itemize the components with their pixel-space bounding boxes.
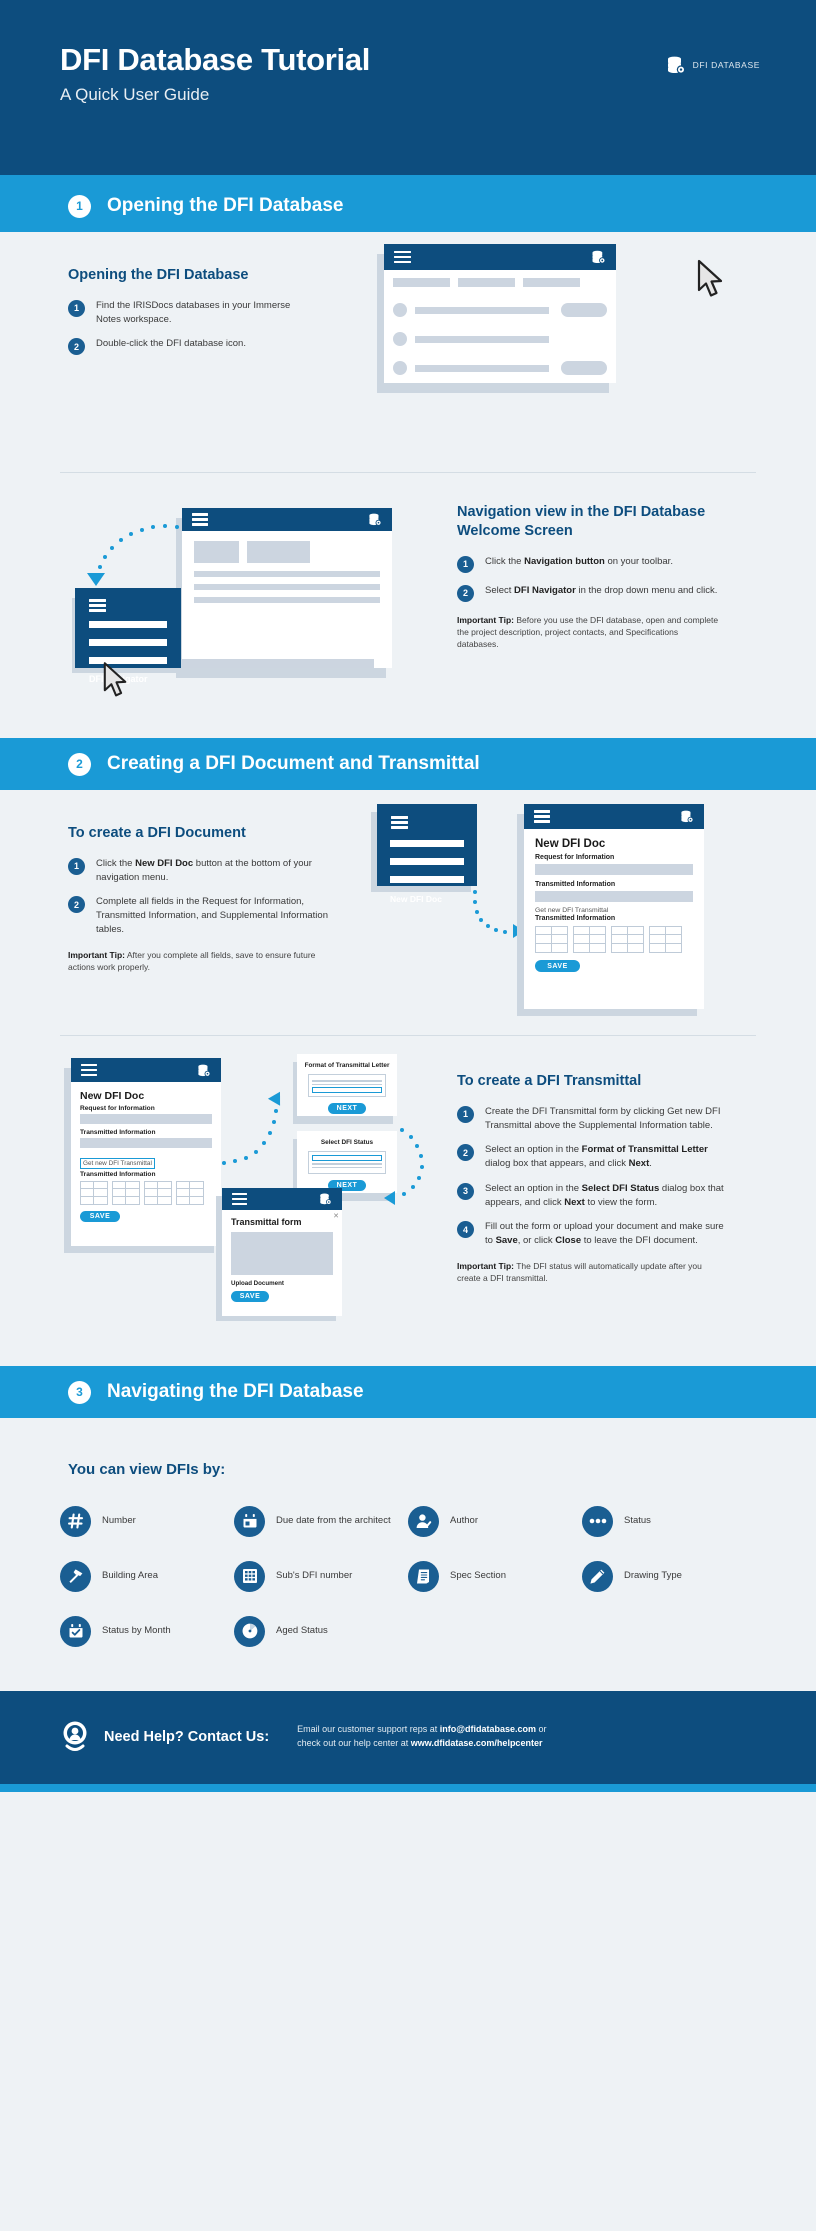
row-avatar: [393, 332, 407, 346]
view-option-drawing-type[interactable]: Drawing Type: [582, 1561, 756, 1592]
view-option-subs-dfi-number[interactable]: Sub's DFI number: [234, 1561, 408, 1592]
view-option-building-area[interactable]: Building Area: [60, 1561, 234, 1592]
footer-accent-rule: [0, 1784, 816, 1792]
list-item: 2 Select DFI Navigator in the drop down …: [457, 584, 722, 602]
view-option-label: Aged Status: [276, 1625, 328, 1637]
field-input[interactable]: [535, 891, 693, 902]
document-preview-area[interactable]: [231, 1232, 333, 1275]
step-text: Double-click the DFI database icon.: [96, 337, 246, 355]
table-grid[interactable]: [112, 1181, 140, 1205]
row-avatar: [393, 303, 407, 317]
select-dfi-status-dialog: Select DFI Status NEXT: [297, 1131, 397, 1193]
field-label: Transmitted Information: [535, 881, 693, 888]
mockup-toolbar[interactable]: [222, 1188, 342, 1210]
footer-contact-text: Email our customer support reps at info@…: [297, 1723, 546, 1751]
section-title-2: Creating a DFI Document and Transmittal: [107, 753, 480, 775]
page-header: DFI Database Tutorial A Quick User Guide…: [0, 0, 816, 175]
menu-item-placeholder[interactable]: [89, 639, 167, 646]
footer-title: Need Help? Contact Us:: [104, 1729, 269, 1745]
step-number: 1: [68, 858, 85, 875]
view-by-icon-grid: Number Due date from the architect Autho…: [0, 1506, 816, 1647]
nav-menu-new-dfi-doc[interactable]: New DFI Doc: [377, 804, 477, 886]
field-input[interactable]: [80, 1138, 212, 1148]
field-label: Transmitted Information: [535, 915, 693, 922]
get-new-transmittal-link-highlighted[interactable]: Get new DFI Transmittal: [80, 1158, 155, 1169]
tab-placeholder[interactable]: [393, 278, 450, 287]
row-placeholder: [194, 571, 380, 577]
block-3-tip: Important Tip: After you complete all fi…: [68, 949, 333, 974]
mouse-cursor-icon: [696, 259, 726, 299]
document-list-icon: [408, 1561, 439, 1592]
hamburger-menu-icon[interactable]: [81, 1064, 97, 1077]
view-option-author[interactable]: Author: [408, 1506, 582, 1537]
brand-label: DFI DATABASE: [693, 60, 760, 70]
list-item: 1 Create the DFI Transmittal form by cli…: [457, 1105, 725, 1133]
ellipsis-icon: [582, 1506, 613, 1537]
row-avatar: [393, 361, 407, 375]
step-text: Select an option in the Select DFI Statu…: [485, 1182, 725, 1210]
arrow-head: [268, 1088, 286, 1105]
mockup-toolbar[interactable]: [71, 1058, 221, 1082]
field-label: Request for Information: [535, 854, 693, 861]
view-option-status-by-month[interactable]: Status by Month: [60, 1616, 234, 1647]
database-gear-icon[interactable]: [680, 810, 694, 823]
tab-placeholder[interactable]: [523, 278, 580, 287]
block-2-steps: 1 Click the Navigation button on your to…: [457, 555, 722, 602]
list-item: 1 Click the New DFI Doc button at the bo…: [68, 857, 333, 885]
step-text: Click the Navigation button on your tool…: [485, 555, 673, 573]
page-title: DFI Database Tutorial: [60, 42, 756, 78]
block-4-steps: 1 Create the DFI Transmittal form by cli…: [457, 1105, 725, 1248]
transmittal-form-mockup: ✕ Transmittal form Upload Document SAVE: [222, 1188, 342, 1316]
database-gear-icon[interactable]: [319, 1193, 332, 1205]
hamburger-menu-icon[interactable]: [232, 1193, 247, 1206]
table-row: [393, 303, 607, 317]
table-grid[interactable]: [144, 1181, 172, 1205]
list-item: 2 Double-click the DFI database icon.: [68, 337, 303, 355]
step-text: Complete all fields in the Request for I…: [96, 895, 333, 936]
hamburger-menu-icon[interactable]: [391, 816, 408, 829]
table-grid[interactable]: [649, 926, 682, 953]
step-number: 1: [457, 556, 474, 573]
list-item: 2 Complete all fields in the Request for…: [68, 895, 333, 936]
section-banner-1: 1 Opening the DFI Database: [0, 180, 816, 232]
dialog-title: Select DFI Status: [297, 1139, 397, 1146]
view-option-label: Number: [102, 1515, 136, 1527]
mockup-panels: [194, 541, 310, 563]
step-number: 2: [457, 1144, 474, 1161]
view-option-due-date[interactable]: Due date from the architect: [234, 1506, 408, 1537]
view-option-spec-section[interactable]: Spec Section: [408, 1561, 582, 1592]
block-2-tip: Important Tip: Before you use the DFI da…: [457, 614, 722, 651]
block-1-steps: 1 Find the IRISDocs databases in your Im…: [68, 299, 303, 356]
table-grid[interactable]: [80, 1181, 108, 1205]
block-4-title: To create a DFI Transmittal: [457, 1072, 725, 1091]
mouse-cursor-icon: [102, 661, 130, 699]
new-dfi-doc-label[interactable]: New DFI Doc: [390, 894, 442, 904]
save-button[interactable]: SAVE: [80, 1211, 120, 1222]
block-4-tip: Important Tip: The DFI status will autom…: [457, 1260, 725, 1285]
section-number-3: 3: [68, 1381, 91, 1404]
calendar-icon: [234, 1506, 265, 1537]
list-item: 3 Select an option in the Select DFI Sta…: [457, 1182, 725, 1210]
table-grid[interactable]: [573, 926, 606, 953]
section-banner-3: 3 Navigating the DFI Database: [0, 1366, 816, 1418]
headset-support-icon: [60, 1720, 90, 1754]
block-1-text: Opening the DFI Database 1 Find the IRIS…: [68, 266, 303, 366]
list-item: 4 Fill out the form or upload your docum…: [457, 1220, 725, 1248]
next-button[interactable]: NEXT: [328, 1103, 366, 1114]
row-text-placeholder: [415, 307, 549, 314]
row-placeholder: [194, 584, 380, 590]
panel-placeholder: [247, 541, 310, 563]
block-3-text: To create a DFI Document 1 Click the New…: [68, 824, 333, 973]
table-row: [393, 361, 607, 375]
dialog-title: Format of Transmittal Letter: [297, 1062, 397, 1069]
block-4-text: To create a DFI Transmittal 1 Create the…: [457, 1072, 725, 1285]
field-label: Transmitted Information: [80, 1129, 212, 1136]
option-row[interactable]: [312, 1167, 382, 1169]
block-2-title: Navigation view in the DFI Database Welc…: [457, 503, 722, 541]
mockup-rows: [393, 303, 607, 375]
view-option-label: Spec Section: [450, 1570, 506, 1582]
option-row[interactable]: [312, 1080, 382, 1082]
database-gear-icon[interactable]: [591, 250, 606, 264]
hamburger-menu-icon[interactable]: [394, 251, 411, 264]
table-grid[interactable]: [611, 926, 644, 953]
hamburger-menu-icon[interactable]: [192, 513, 208, 526]
pencil-icon: [582, 1561, 613, 1592]
infographic-page: DFI Database Tutorial A Quick User Guide…: [0, 0, 816, 1792]
person-check-icon: [408, 1506, 439, 1537]
list-item: 1 Find the IRISDocs databases in your Im…: [68, 299, 303, 327]
database-gear-icon[interactable]: [197, 1064, 211, 1077]
dialog-options: [308, 1074, 386, 1097]
arrow-head: [87, 573, 105, 586]
step-number: 1: [68, 300, 85, 317]
block-3-title: To create a DFI Document: [68, 824, 333, 843]
mockup-statusbar: [182, 659, 374, 668]
welcome-screen-mockup: [384, 244, 616, 383]
section-number-1: 1: [68, 195, 91, 218]
section-1b-content: DFI Navigator Navigation view in the DFI…: [0, 473, 816, 738]
brand-logo: DFI DATABASE: [666, 56, 760, 74]
field-label: Transmitted Information: [80, 1171, 212, 1178]
row-text-placeholder: [415, 365, 549, 372]
step-number: 1: [457, 1106, 474, 1123]
pie-chart-icon: [234, 1616, 265, 1647]
option-row[interactable]: [312, 1084, 382, 1086]
option-row-selected[interactable]: [312, 1155, 382, 1161]
section-1-content: Opening the DFI Database 1 Find the IRIS…: [0, 232, 816, 472]
supplemental-tables: [80, 1181, 212, 1205]
panel-placeholder: [194, 541, 239, 563]
navigation-welcome-mockup: [182, 508, 392, 668]
section-title-1: Opening the DFI Database: [107, 195, 343, 217]
view-option-label: Building Area: [102, 1570, 158, 1582]
mockup-toolbar[interactable]: [524, 804, 704, 829]
row-text-placeholder: [415, 336, 549, 343]
menu-item-placeholder[interactable]: [89, 621, 167, 628]
field-input[interactable]: [80, 1114, 212, 1124]
menu-item-placeholder[interactable]: [390, 840, 464, 847]
grid-icon: [234, 1561, 265, 1592]
mockup-toolbar[interactable]: [182, 508, 392, 531]
menu-item-placeholder[interactable]: [390, 876, 464, 883]
section-number-2: 2: [68, 753, 91, 776]
view-option-label: Due date from the architect: [276, 1515, 391, 1527]
form-title: Transmittal form: [231, 1217, 333, 1227]
arrow-head: [384, 1191, 395, 1205]
view-option-label: Status: [624, 1515, 651, 1527]
view-option-number[interactable]: Number: [60, 1506, 234, 1537]
list-item: 1 Click the Navigation button on your to…: [457, 555, 722, 573]
table-grid[interactable]: [535, 926, 568, 953]
option-row[interactable]: [312, 1163, 382, 1165]
mockup-toolbar[interactable]: [384, 244, 616, 270]
step-text: Select DFI Navigator in the drop down me…: [485, 584, 717, 602]
section-title-3: Navigating the DFI Database: [107, 1381, 364, 1403]
block-3-steps: 1 Click the New DFI Doc button at the bo…: [68, 857, 333, 937]
mockup-tabs: [393, 278, 580, 287]
row-action-placeholder[interactable]: [561, 303, 607, 317]
step-text: Find the IRISDocs databases in your Imme…: [96, 299, 303, 327]
list-item: 2 Select an option in the Format of Tran…: [457, 1143, 725, 1171]
step-text: Create the DFI Transmittal form by click…: [485, 1105, 725, 1133]
step-number: 2: [68, 338, 85, 355]
step-text: Select an option in the Format of Transm…: [485, 1143, 725, 1171]
format-transmittal-dialog: Format of Transmittal Letter NEXT: [297, 1054, 397, 1116]
step-number: 2: [457, 585, 474, 602]
supplemental-tables: [535, 926, 693, 953]
save-button[interactable]: SAVE: [535, 960, 580, 972]
calendar-check-icon: [60, 1616, 91, 1647]
form-title: New DFI Doc: [80, 1090, 212, 1102]
upload-document-label: Upload Document: [231, 1280, 333, 1287]
hash-icon: [60, 1506, 91, 1537]
table-grid[interactable]: [176, 1181, 204, 1205]
step-number: 3: [457, 1183, 474, 1200]
table-row: [393, 332, 607, 346]
section-2b-content: New DFI Doc Request for Information Tran…: [0, 1036, 816, 1366]
tab-placeholder[interactable]: [458, 278, 515, 287]
view-option-label: Status by Month: [102, 1625, 171, 1637]
field-input[interactable]: [535, 864, 693, 875]
step-text: Fill out the form or upload your documen…: [485, 1220, 725, 1248]
section-2a-content: To create a DFI Document 1 Click the New…: [0, 790, 816, 1035]
mockup-rows: [194, 571, 380, 603]
section-banner-2: 2 Creating a DFI Document and Transmitta…: [0, 738, 816, 790]
view-option-aged-status[interactable]: Aged Status: [234, 1616, 408, 1647]
page-footer: Need Help? Contact Us: Email our custome…: [0, 1691, 816, 1784]
block-5-title: You can view DFIs by:: [0, 1460, 816, 1480]
step-text: Click the New DFI Doc button at the bott…: [96, 857, 333, 885]
step-number: 2: [68, 896, 85, 913]
hamburger-menu-icon[interactable]: [89, 599, 106, 612]
page-subtitle: A Quick User Guide: [60, 85, 756, 105]
hammer-icon: [60, 1561, 91, 1592]
get-new-transmittal-link[interactable]: Get new DFI Transmittal: [535, 907, 693, 914]
hamburger-menu-icon[interactable]: [534, 810, 550, 823]
view-option-label: Author: [450, 1515, 478, 1527]
view-option-label: Sub's DFI number: [276, 1570, 352, 1582]
save-button[interactable]: SAVE: [231, 1291, 269, 1302]
close-icon[interactable]: ✕: [333, 1212, 339, 1220]
block-2-text: Navigation view in the DFI Database Welc…: [457, 503, 722, 651]
row-placeholder: [194, 597, 380, 603]
view-option-status[interactable]: Status: [582, 1506, 756, 1537]
database-gear-icon[interactable]: [368, 513, 382, 526]
section-3-content: You can view DFIs by: Number Due date fr…: [0, 1418, 816, 1691]
new-dfi-doc-form-2: New DFI Doc Request for Information Tran…: [71, 1058, 221, 1246]
form-title: New DFI Doc: [535, 838, 693, 850]
step-number: 4: [457, 1221, 474, 1238]
option-row-selected[interactable]: [312, 1087, 382, 1093]
view-option-label: Drawing Type: [624, 1570, 682, 1582]
dfi-navigator-menu[interactable]: DFI Navigator: [75, 588, 181, 668]
menu-item-placeholder[interactable]: [390, 858, 464, 865]
database-gear-icon: [666, 56, 686, 74]
block-1-title: Opening the DFI Database: [68, 266, 303, 285]
row-action-placeholder[interactable]: [561, 361, 607, 375]
dialog-options: [308, 1151, 386, 1174]
new-dfi-doc-form: New DFI Doc Request for Information Tran…: [524, 804, 704, 1009]
field-label: Request for Information: [80, 1105, 212, 1112]
